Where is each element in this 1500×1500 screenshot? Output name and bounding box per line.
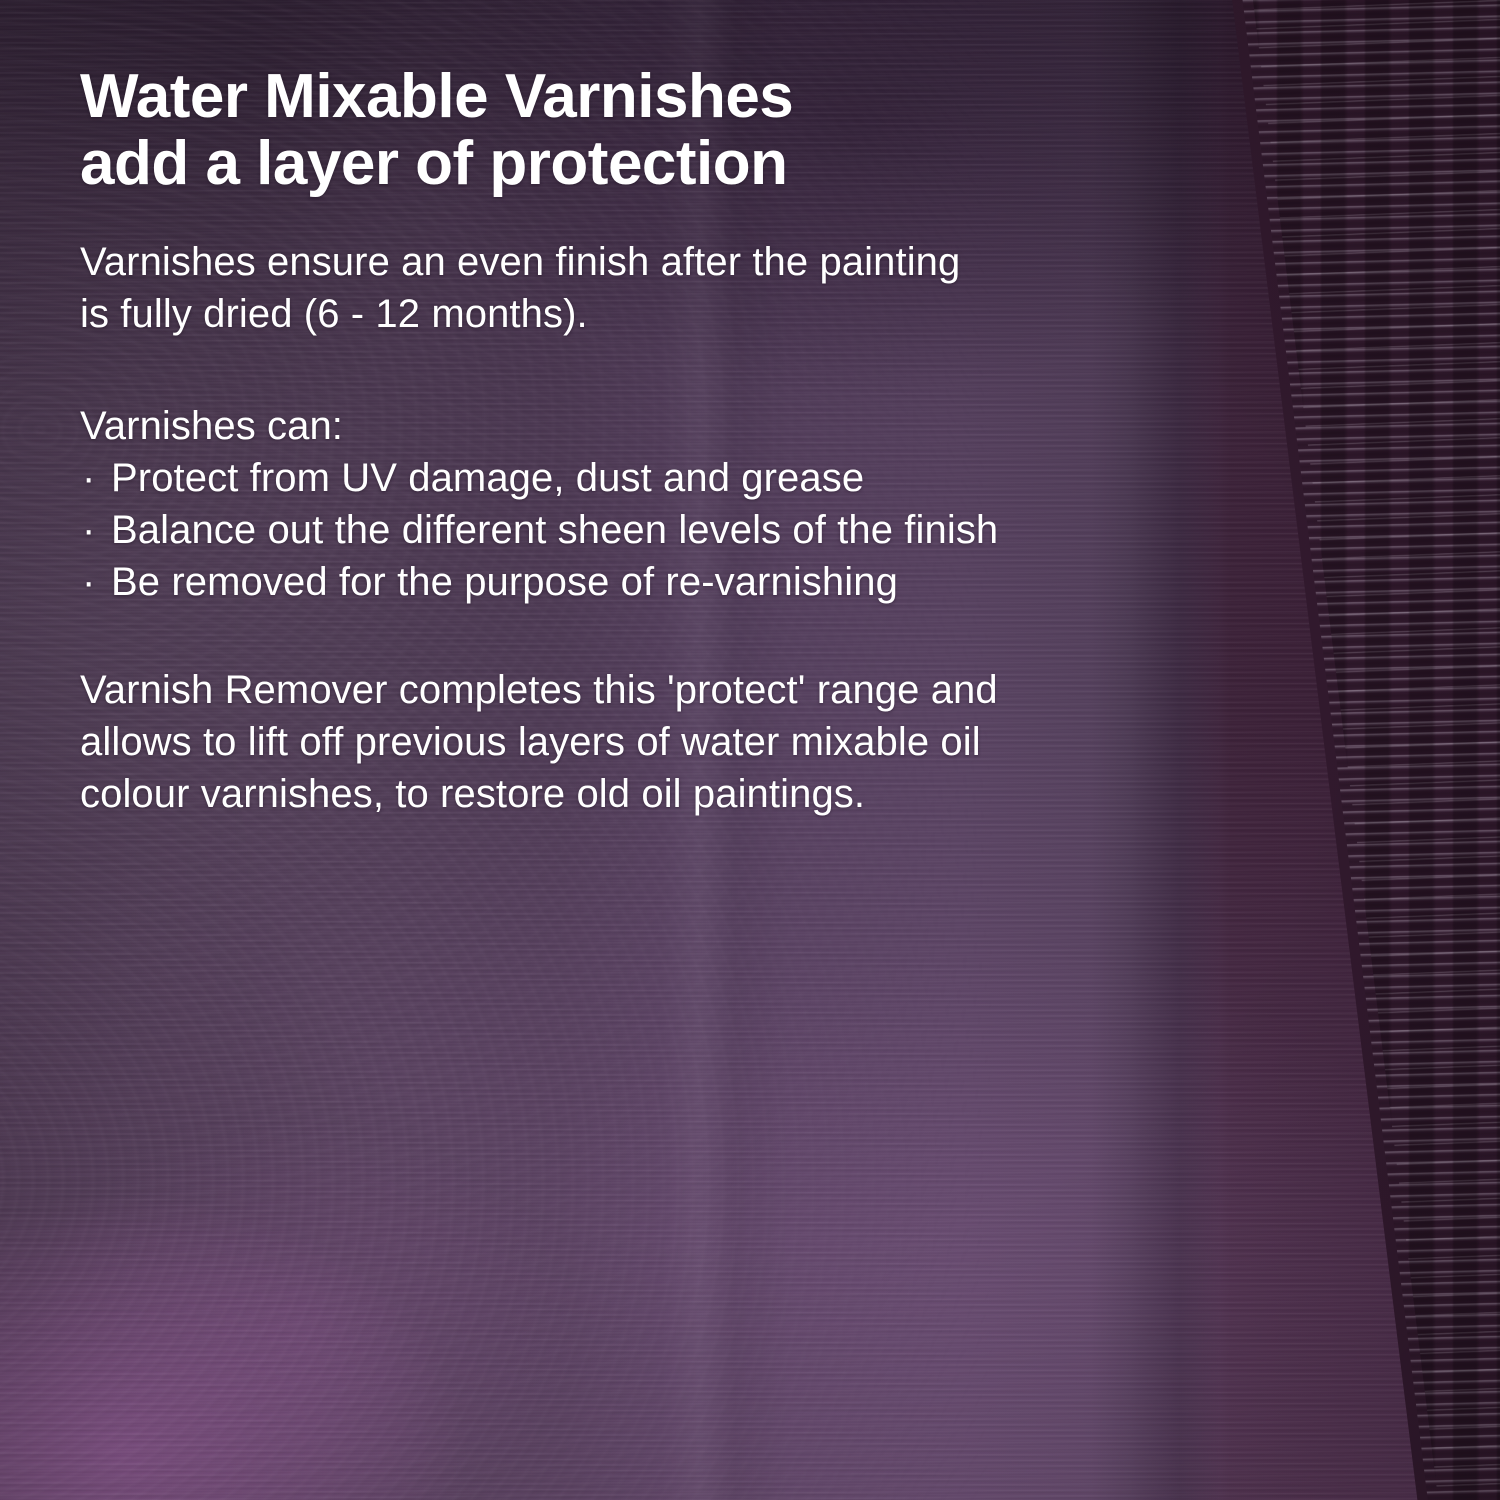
list-item: · Be removed for the purpose of re-varni… bbox=[80, 556, 1160, 608]
bullet-dot-icon: · bbox=[82, 556, 91, 608]
intro-paragraph: Varnishes ensure an even finish after th… bbox=[80, 236, 1160, 340]
bullet-dot-icon: · bbox=[82, 504, 91, 556]
closing-paragraph: Varnish Remover completes this 'protect'… bbox=[80, 664, 1160, 820]
spacer-after-intro bbox=[80, 340, 1160, 400]
list-item: · Balance out the different sheen levels… bbox=[80, 504, 1160, 556]
spacer-after-list bbox=[80, 608, 1160, 664]
bullet-dot-icon: · bbox=[82, 452, 91, 504]
panel-content: Water Mixable Varnishes add a layer of p… bbox=[80, 0, 1160, 820]
list-heading: Varnishes can: bbox=[80, 400, 1160, 452]
varnish-capability-list: · Protect from UV damage, dust and greas… bbox=[80, 452, 1160, 608]
list-item: · Protect from UV damage, dust and greas… bbox=[80, 452, 1160, 504]
info-panel-canvas: Water Mixable Varnishes add a layer of p… bbox=[0, 0, 1500, 1500]
panel-body: Varnishes ensure an even finish after th… bbox=[80, 236, 1160, 820]
list-item-label: Be removed for the purpose of re-varnish… bbox=[111, 560, 898, 604]
page-title: Water Mixable Varnishes add a layer of p… bbox=[80, 0, 1160, 198]
list-item-label: Protect from UV damage, dust and grease bbox=[111, 456, 864, 500]
list-item-label: Balance out the different sheen levels o… bbox=[111, 508, 998, 552]
